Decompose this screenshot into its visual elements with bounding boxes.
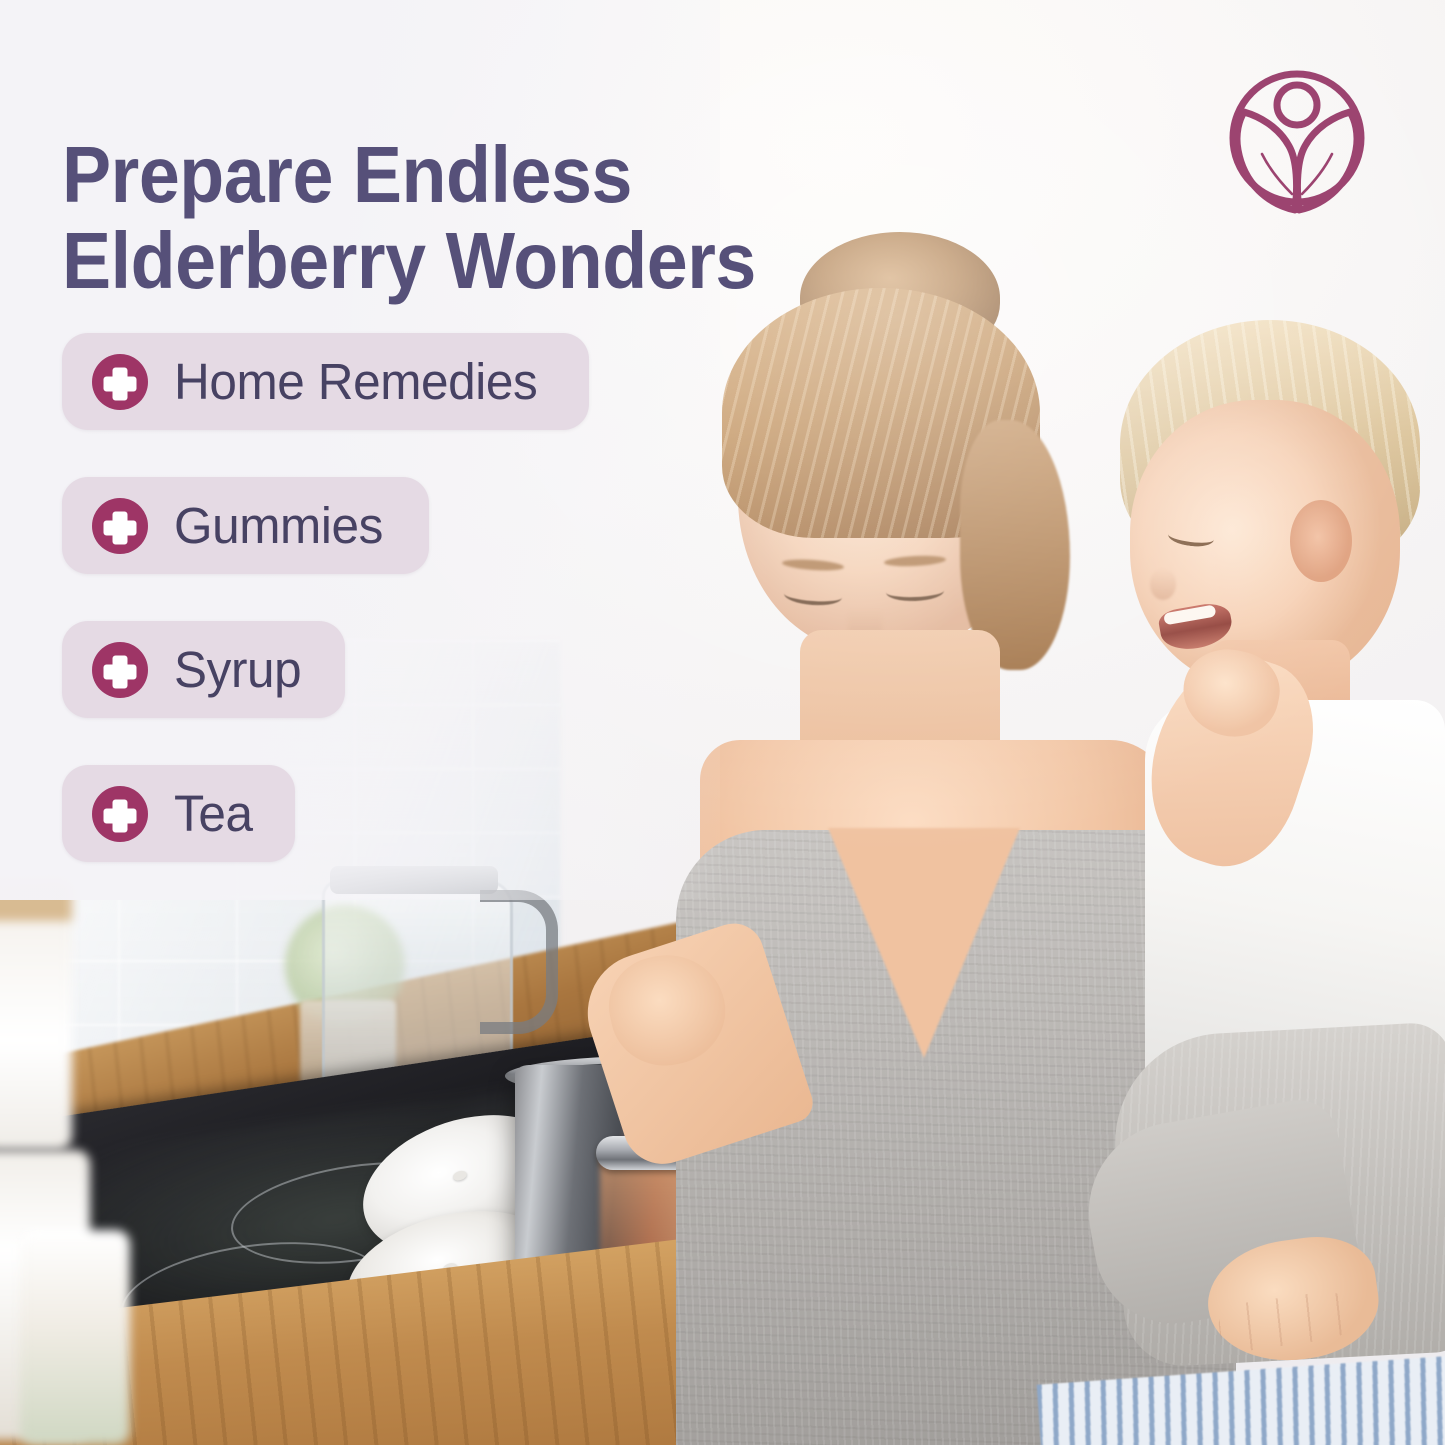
child-ear [1290, 500, 1352, 582]
wellness-person-leaves-circle-icon [1222, 58, 1372, 218]
feature-pill-label: Home Remedies [174, 352, 537, 411]
feature-pill-list: Home Remedies Gummies Syrup Tea [62, 333, 589, 862]
feature-pill-label: Syrup [174, 640, 301, 699]
woman-shirt-vneck [828, 828, 1020, 1058]
child-nose [1150, 568, 1176, 600]
glass-kettle-handle [480, 890, 558, 1034]
brand-logo [1222, 58, 1372, 218]
feature-pill-label: Tea [174, 784, 253, 843]
feature-pill-syrup[interactable]: Syrup [62, 621, 345, 718]
foreground-jar [0, 880, 72, 1150]
feature-pill-gummies[interactable]: Gummies [62, 477, 429, 574]
feature-pill-label: Gummies [174, 496, 383, 555]
plus-icon [92, 354, 148, 410]
page-title: Prepare Endless Elderberry Wonders [62, 132, 844, 305]
feature-pill-home-remedies[interactable]: Home Remedies [62, 333, 589, 430]
plus-icon [92, 786, 148, 842]
foreground-jar [20, 1230, 130, 1445]
promo-image-canvas: Prepare Endless Elderberry Wonders Home … [0, 0, 1445, 1445]
plus-icon [92, 498, 148, 554]
glass-kettle-lid [330, 866, 498, 894]
feature-pill-tea[interactable]: Tea [62, 765, 295, 862]
plus-icon [92, 642, 148, 698]
